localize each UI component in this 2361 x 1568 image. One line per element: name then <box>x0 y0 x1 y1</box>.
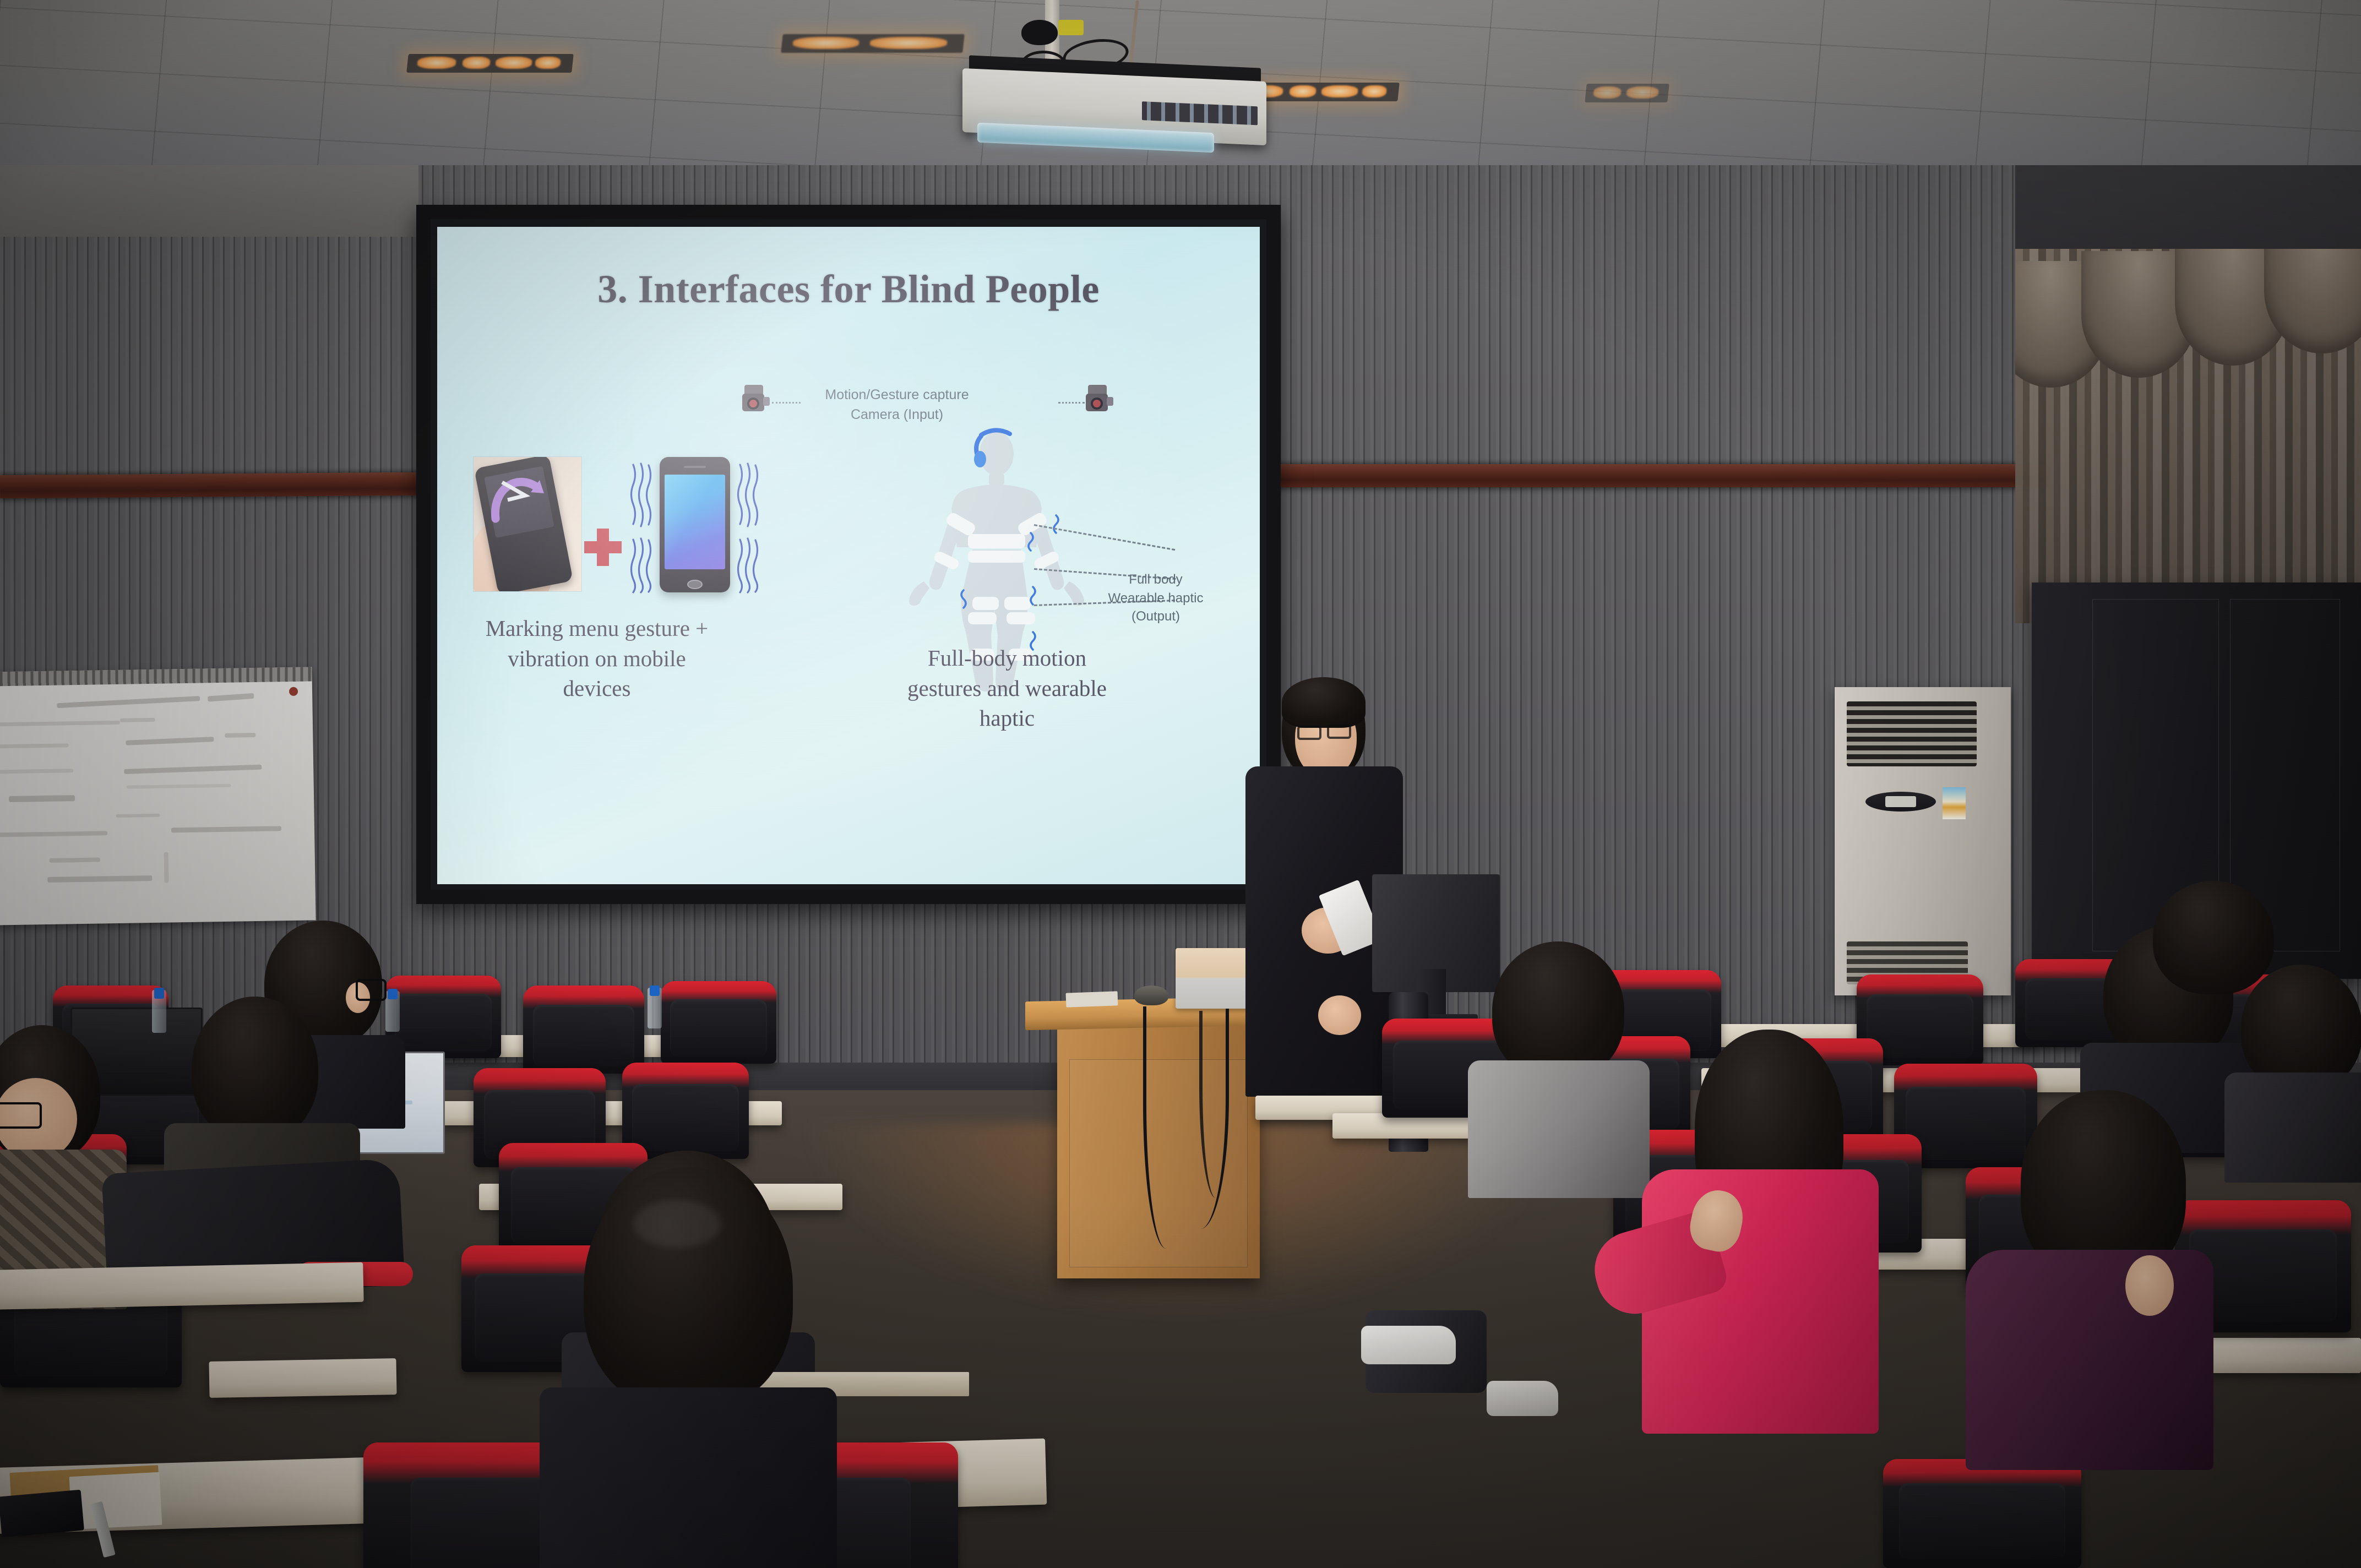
output-label-line2: Wearable haptic <box>1087 589 1225 608</box>
student-right-far <box>2136 881 2302 1024</box>
bottle-cap <box>154 988 164 999</box>
camera-input-label-line1: Motion/Gesture capture <box>806 385 988 405</box>
student-glasses <box>0 1102 42 1129</box>
camera-connector-right <box>1058 402 1085 404</box>
ceiling-light-far-right <box>781 34 965 53</box>
whiteboard <box>0 667 316 925</box>
lecture-hall-scene: 3. Interfaces for Blind People <box>0 0 2361 1568</box>
camera-input-label: Motion/Gesture capture Camera (Input) <box>806 385 988 424</box>
wall-trim-band-right <box>1266 464 2048 487</box>
floor-standing-air-conditioner <box>1835 687 2011 995</box>
caption-right: Full-body motion gestures and wearable h… <box>850 643 1164 733</box>
projection-screen-border: 3. Interfaces for Blind People <box>431 219 1266 890</box>
output-label-line3: (Output) <box>1087 607 1225 626</box>
lectern-mouse <box>1134 986 1168 1005</box>
presenter-hair <box>1282 677 1366 728</box>
phone-home-button <box>687 580 703 589</box>
curtain-shadow <box>2015 249 2361 623</box>
projection-screen: 3. Interfaces for Blind People <box>416 205 1281 904</box>
water-bottle <box>648 988 662 1028</box>
lectern-papers <box>1066 991 1118 1007</box>
caption-left: Marking menu gesture + vibration on mobi… <box>448 613 746 704</box>
student-torso <box>2224 1072 2361 1183</box>
hand-holding-phone-photo <box>474 457 581 591</box>
window-curtains <box>2015 249 2361 623</box>
output-label-line1: Full body <box>1087 570 1225 589</box>
vibration-waves-left <box>628 457 656 595</box>
slide-title: 3. Interfaces for Blind People <box>437 266 1260 312</box>
presenter-glasses-right <box>1327 725 1351 739</box>
caption-left-line3: devices <box>448 673 746 704</box>
wearable-haptic-output-label: Full body Wearable haptic (Output) <box>1087 570 1225 626</box>
vibration-waves-right <box>735 457 763 595</box>
bottle-cap <box>650 986 660 996</box>
projector-mount-knob <box>1021 20 1058 45</box>
seat[interactable] <box>523 986 644 1074</box>
presentation-slide: 3. Interfaces for Blind People <box>437 227 1260 884</box>
caption-left-line2: vibration on mobile <box>448 644 746 674</box>
student-right-purple <box>1960 1090 2213 1464</box>
camera-connector-left <box>772 402 801 404</box>
whiteboard-handwriting <box>0 667 316 925</box>
ceiling-light-right <box>1585 84 1669 102</box>
presenter-glasses <box>1297 726 1321 740</box>
student-pink-jacket <box>1547 1004 1889 1434</box>
sneaker <box>1361 1326 1456 1364</box>
ac-display-panel <box>1865 792 1936 812</box>
projector-cable-connector <box>1058 20 1084 35</box>
marking-menu-arrow-icon <box>482 468 548 529</box>
ac-top-louver <box>1847 701 1977 766</box>
projector-ports <box>1142 101 1258 125</box>
student-hair-highlight <box>633 1200 721 1248</box>
video-camera-icon-left <box>741 383 771 417</box>
student-purple-jacket <box>1966 1250 2213 1470</box>
seat[interactable] <box>1883 1459 2081 1568</box>
student-glasses <box>356 979 387 1001</box>
ceiling-soffit-left <box>0 165 418 237</box>
student-foreground-center <box>551 1167 826 1568</box>
student-head <box>2153 881 2274 994</box>
plus-sign-icon <box>597 529 609 566</box>
desk-foreground-left-2 <box>209 1358 396 1398</box>
caption-left-line1: Marking menu gesture + <box>448 613 746 644</box>
presenter-hand-lower <box>1318 995 1361 1035</box>
phone-screen <box>665 475 725 569</box>
ceiling-light-left <box>406 54 574 73</box>
ac-energy-label <box>1943 787 1966 819</box>
water-bottle <box>152 990 166 1033</box>
desk-foreground-left <box>0 1262 364 1310</box>
phone-speaker <box>684 466 706 468</box>
caption-right-line2: gestures and wearable <box>850 673 1164 704</box>
student-torso <box>540 1387 837 1568</box>
smartphone-on-desk <box>0 1490 84 1538</box>
camera-input-label-line2: Camera (Input) <box>806 405 988 425</box>
smartphone-icon <box>660 457 730 592</box>
video-camera-icon-right <box>1085 383 1114 417</box>
caption-right-line3: haptic <box>850 703 1164 733</box>
seat[interactable] <box>661 981 776 1064</box>
caption-right-line1: Full-body motion <box>850 643 1164 673</box>
student-head <box>192 997 318 1141</box>
sneaker-2 <box>1487 1381 1558 1416</box>
student-hand <box>2125 1255 2174 1316</box>
